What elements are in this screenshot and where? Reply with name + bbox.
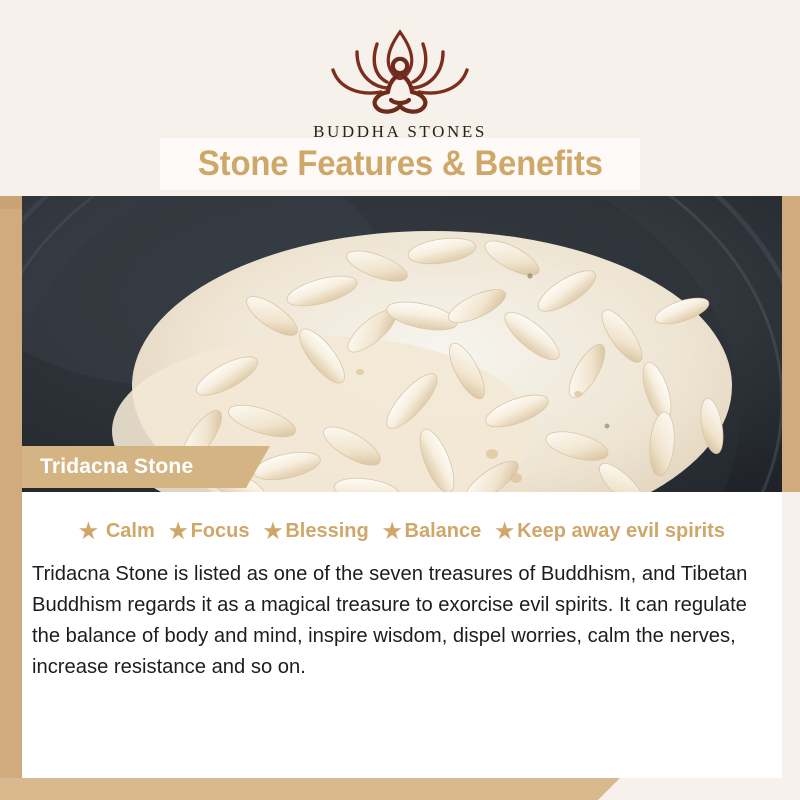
lotus-meditation-icon xyxy=(305,22,495,118)
feature-tag-calm: ★ Calm xyxy=(79,520,155,543)
description-text: Tridacna Stone is listed as one of the s… xyxy=(32,558,763,682)
feature-tag-label: Keep away evil spirits xyxy=(517,520,725,543)
feature-tag-label: Calm xyxy=(106,520,155,543)
decor-band-left xyxy=(0,195,22,781)
section-title-band: Stone Features & Benefits xyxy=(160,138,640,190)
product-info-graphic: BUDDHA STONES Stone Features & Benefits xyxy=(0,0,800,800)
header: BUDDHA STONES Stone Features & Benefits xyxy=(0,0,800,196)
brand-logo: BUDDHA STONES xyxy=(0,22,800,142)
feature-tag-label: Blessing xyxy=(285,520,368,543)
star-icon: ★ xyxy=(79,521,98,542)
photo-caption-band: Tridacna Stone xyxy=(22,446,270,488)
feature-tag-list: ★ Calm ★ Focus ★ Blessing ★ Balance ★ Ke… xyxy=(22,520,782,543)
page-title: Stone Features & Benefits xyxy=(198,144,603,184)
star-icon: ★ xyxy=(495,521,514,542)
feature-tag-label: Balance xyxy=(405,520,482,543)
feature-tag-label: Focus xyxy=(191,520,250,543)
star-icon: ★ xyxy=(169,521,188,542)
decor-band-left-cap xyxy=(0,195,22,209)
feature-tag-focus: ★ Focus xyxy=(169,520,250,543)
star-icon: ★ xyxy=(264,521,283,542)
decor-band-bottom xyxy=(0,778,620,800)
star-icon: ★ xyxy=(383,521,402,542)
photo-caption-label: Tridacna Stone xyxy=(22,455,193,479)
content-panel: ★ Calm ★ Focus ★ Blessing ★ Balance ★ Ke… xyxy=(22,492,782,778)
feature-tag-keep-away-evil-spirits: ★ Keep away evil spirits xyxy=(495,520,725,543)
feature-tag-blessing: ★ Blessing xyxy=(264,520,369,543)
feature-tag-balance: ★ Balance xyxy=(383,520,482,543)
